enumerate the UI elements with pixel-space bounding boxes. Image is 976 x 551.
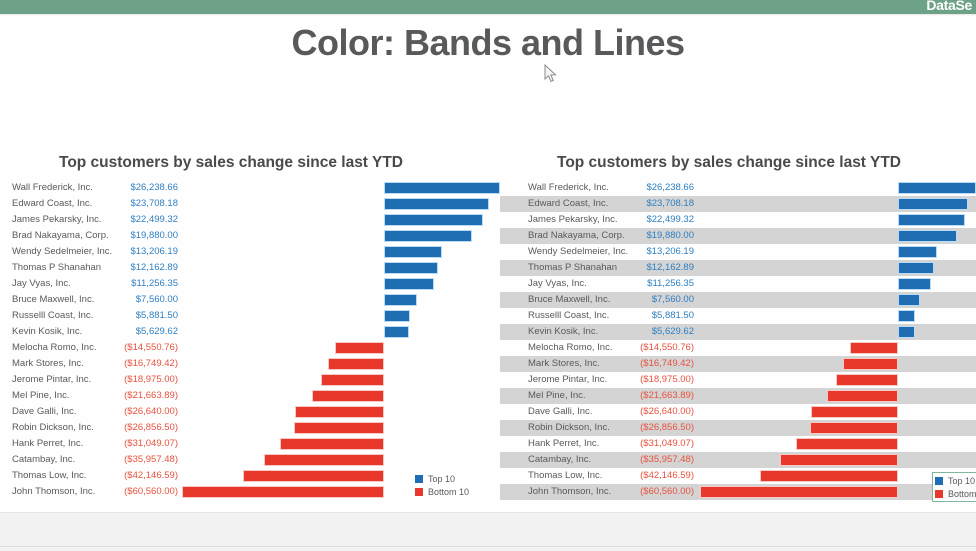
- chart-bar[interactable]: [384, 294, 417, 306]
- row-value-label: $12,162.89: [100, 262, 178, 273]
- chart-row: Wall Frederick, Inc.$26,238.66: [500, 180, 976, 196]
- chart-bar[interactable]: [295, 406, 384, 418]
- row-value-label: ($16,749.42): [616, 358, 694, 369]
- row-value-label: ($26,640.00): [616, 406, 694, 417]
- row-value-label: ($16,749.42): [100, 358, 178, 369]
- row-category-label: Bruce Maxwell, Inc.: [528, 294, 610, 305]
- chart-bar[interactable]: [836, 374, 898, 386]
- chart-bar[interactable]: [700, 486, 898, 498]
- legend-label-bottom: Bottom 10: [428, 487, 469, 497]
- slide-footer-area: [0, 512, 976, 551]
- chart-row: Kevin Kosik, Inc.$5,629.62: [0, 324, 500, 340]
- app-header-ribbon: DataSe: [0, 0, 976, 14]
- row-value-label: $5,629.62: [100, 326, 178, 337]
- chart-bar[interactable]: [384, 278, 434, 290]
- row-category-label: Jerome Pintar, Inc.: [528, 374, 607, 385]
- chart-bar[interactable]: [264, 454, 384, 466]
- row-value-label: $26,238.66: [100, 182, 178, 193]
- row-value-label: ($26,856.50): [100, 422, 178, 433]
- chart-bar[interactable]: [796, 438, 898, 450]
- legend-item-bottom[interactable]: Bottom 10: [935, 487, 976, 500]
- chart-bar[interactable]: [321, 374, 384, 386]
- row-category-label: Thomas Low, Inc.: [528, 470, 602, 481]
- chart-bar[interactable]: [898, 214, 965, 226]
- row-value-label: $23,708.18: [100, 198, 178, 209]
- chart-bar[interactable]: [312, 390, 384, 402]
- chart-bar[interactable]: [335, 342, 384, 354]
- chart-row: Jay Vyas, Inc.$11,256.35: [0, 276, 500, 292]
- chart-bar[interactable]: [827, 390, 898, 402]
- chart-row: Russelll Coast, Inc.$5,881.50: [500, 308, 976, 324]
- row-value-label: ($21,663.89): [100, 390, 178, 401]
- chart-bar[interactable]: [780, 454, 898, 466]
- row-category-label: Kevin Kosik, Inc.: [528, 326, 598, 337]
- row-category-label: Mel Pine, Inc.: [12, 390, 70, 401]
- chart-row: Jerome Pintar, Inc.($18,975.00): [500, 372, 976, 388]
- chart-bar[interactable]: [898, 294, 920, 306]
- legend-swatch-top-icon: [415, 475, 423, 483]
- row-category-label: Russelll Coast, Inc.: [12, 310, 93, 321]
- chart-bar[interactable]: [384, 326, 409, 338]
- chart-title: Top customers by sales change since last…: [500, 154, 976, 172]
- chart-bar[interactable]: [243, 470, 384, 482]
- chart-row: Robin Dickson, Inc.($26,856.50): [500, 420, 976, 436]
- row-value-label: ($26,640.00): [100, 406, 178, 417]
- row-category-label: Hank Perret, Inc.: [12, 438, 83, 449]
- row-value-label: ($26,856.50): [616, 422, 694, 433]
- row-category-label: John Thomson, Inc.: [12, 486, 95, 497]
- row-value-label: $13,206.19: [100, 246, 178, 257]
- row-category-label: Mel Pine, Inc.: [528, 390, 586, 401]
- header-shadow: [0, 14, 976, 16]
- chart-row: Dave Galli, Inc.($26,640.00): [500, 404, 976, 420]
- row-value-label: ($31,049.07): [616, 438, 694, 449]
- chart-bar[interactable]: [384, 182, 500, 194]
- row-value-label: ($14,550.76): [616, 342, 694, 353]
- row-value-label: ($31,049.07): [100, 438, 178, 449]
- brand-label: DataSe: [926, 0, 972, 13]
- row-category-label: Dave Galli, Inc.: [12, 406, 76, 417]
- chart-row: Edward Coast, Inc.$23,708.18: [500, 196, 976, 212]
- chart-row: Catambay, Inc.($35,957.48): [0, 452, 500, 468]
- chart-row: Wendy Sedelmeier, Inc.$13,206.19: [0, 244, 500, 260]
- row-category-label: Wall Frederick, Inc.: [12, 182, 93, 193]
- chart-bar[interactable]: [384, 262, 438, 274]
- row-category-label: Hank Perret, Inc.: [528, 438, 599, 449]
- chart-bar[interactable]: [898, 182, 976, 194]
- legend-label-top: Top 10: [428, 474, 455, 484]
- chart-bar[interactable]: [898, 262, 934, 274]
- row-category-label: Dave Galli, Inc.: [528, 406, 592, 417]
- chart-row: Russelll Coast, Inc.$5,881.50: [0, 308, 500, 324]
- row-value-label: ($60,560.00): [100, 486, 178, 497]
- row-value-label: $22,499.32: [100, 214, 178, 225]
- row-category-label: Mark Stores, Inc.: [12, 358, 84, 369]
- row-value-label: ($18,975.00): [100, 374, 178, 385]
- chart-bar[interactable]: [182, 486, 384, 498]
- row-category-label: Wall Frederick, Inc.: [528, 182, 609, 193]
- chart-bar[interactable]: [294, 422, 384, 434]
- row-category-label: Catambay, Inc.: [12, 454, 75, 465]
- chart-title: Top customers by sales change since last…: [0, 154, 500, 172]
- row-category-label: Jay Vyas, Inc.: [12, 278, 71, 289]
- legend-item-top[interactable]: Top 10: [415, 472, 469, 485]
- row-category-label: Thomas P Shanahan: [528, 262, 617, 273]
- chart-bar[interactable]: [898, 278, 931, 290]
- row-value-label: $5,881.50: [616, 310, 694, 321]
- row-value-label: $11,256.35: [100, 278, 178, 289]
- chart-legend: Top 10 Bottom 10: [415, 472, 469, 498]
- legend-item-bottom[interactable]: Bottom 10: [415, 485, 469, 498]
- chart-row: Bruce Maxwell, Inc.$7,560.00: [500, 292, 976, 308]
- chart-row: Hank Perret, Inc.($31,049.07): [0, 436, 500, 452]
- chart-plot-area: Wall Frederick, Inc.$26,238.66Edward Coa…: [500, 180, 976, 500]
- row-category-label: Melocha Romo, Inc.: [528, 342, 612, 353]
- row-value-label: ($35,957.48): [616, 454, 694, 465]
- chart-row: Wendy Sedelmeier, Inc.$13,206.19: [500, 244, 976, 260]
- row-value-label: ($14,550.76): [100, 342, 178, 353]
- chart-row: Mark Stores, Inc.($16,749.42): [0, 356, 500, 372]
- chart-row: Brad Nakayama, Corp.$19,880.00: [0, 228, 500, 244]
- chart-legend: Top 10 Bottom 10: [932, 472, 976, 502]
- row-value-label: $5,629.62: [616, 326, 694, 337]
- chart-bar[interactable]: [384, 198, 489, 210]
- footer-divider: [0, 546, 976, 547]
- chart-row: James Pekarsky, Inc.$22,499.32: [500, 212, 976, 228]
- row-value-label: $7,560.00: [616, 294, 694, 305]
- chart-row: Edward Coast, Inc.$23,708.18: [0, 196, 500, 212]
- chart-bar[interactable]: [850, 342, 898, 354]
- row-category-label: Jay Vyas, Inc.: [528, 278, 587, 289]
- row-value-label: ($21,663.89): [616, 390, 694, 401]
- chart-row: Bruce Maxwell, Inc.$7,560.00: [0, 292, 500, 308]
- legend-swatch-top-icon: [935, 477, 943, 485]
- row-value-label: ($42,146.59): [616, 470, 694, 481]
- chart-bar[interactable]: [810, 422, 898, 434]
- row-category-label: Thomas Low, Inc.: [12, 470, 86, 481]
- chart-row: Jerome Pintar, Inc.($18,975.00): [0, 372, 500, 388]
- row-category-label: Thomas P Shanahan: [12, 262, 101, 273]
- chart-row: James Pekarsky, Inc.$22,499.32: [0, 212, 500, 228]
- chart-row: Thomas Low, Inc.($42,146.59): [500, 468, 976, 484]
- row-category-label: James Pekarsky, Inc.: [12, 214, 102, 225]
- chart-panel-right: Top customers by sales change since last…: [500, 150, 976, 510]
- chart-bar[interactable]: [898, 310, 915, 322]
- chart-bar[interactable]: [328, 358, 384, 370]
- row-category-label: Brad Nakayama, Corp.: [528, 230, 625, 241]
- row-value-label: $11,256.35: [616, 278, 694, 289]
- chart-bar[interactable]: [384, 310, 410, 322]
- chart-row: Catambay, Inc.($35,957.48): [500, 452, 976, 468]
- chart-bar[interactable]: [384, 230, 472, 242]
- row-category-label: Wendy Sedelmeier, Inc.: [528, 246, 628, 257]
- legend-label-top: Top 10: [948, 476, 975, 486]
- row-category-label: Melocha Romo, Inc.: [12, 342, 96, 353]
- chart-bar[interactable]: [811, 406, 898, 418]
- row-value-label: ($60,560.00): [616, 486, 694, 497]
- chart-bar[interactable]: [843, 358, 898, 370]
- legend-swatch-bottom-icon: [935, 490, 943, 498]
- row-category-label: Robin Dickson, Inc.: [528, 422, 610, 433]
- row-category-label: Russelll Coast, Inc.: [528, 310, 609, 321]
- row-category-label: Kevin Kosik, Inc.: [12, 326, 82, 337]
- chart-bar[interactable]: [898, 198, 968, 210]
- chart-bar[interactable]: [384, 246, 442, 258]
- legend-item-top[interactable]: Top 10: [935, 474, 976, 487]
- row-value-label: ($18,975.00): [616, 374, 694, 385]
- row-value-label: $26,238.66: [616, 182, 694, 193]
- chart-row: Mark Stores, Inc.($16,749.42): [500, 356, 976, 372]
- chart-row: Melocha Romo, Inc.($14,550.76): [500, 340, 976, 356]
- chart-row: Wall Frederick, Inc.$26,238.66: [0, 180, 500, 196]
- row-category-label: Robin Dickson, Inc.: [12, 422, 94, 433]
- legend-swatch-bottom-icon: [415, 488, 423, 496]
- page-title: Color: Bands and Lines: [0, 22, 976, 64]
- chart-row: Hank Perret, Inc.($31,049.07): [500, 436, 976, 452]
- row-value-label: $19,880.00: [616, 230, 694, 241]
- chart-row: Kevin Kosik, Inc.$5,629.62: [500, 324, 976, 340]
- row-category-label: Wendy Sedelmeier, Inc.: [12, 246, 112, 257]
- row-value-label: $12,162.89: [616, 262, 694, 273]
- row-category-label: Edward Coast, Inc.: [12, 198, 92, 209]
- chart-row: Melocha Romo, Inc.($14,550.76): [0, 340, 500, 356]
- row-value-label: ($42,146.59): [100, 470, 178, 481]
- chart-row: Robin Dickson, Inc.($26,856.50): [0, 420, 500, 436]
- row-value-label: $22,499.32: [616, 214, 694, 225]
- row-value-label: $19,880.00: [100, 230, 178, 241]
- chart-bar[interactable]: [898, 326, 915, 338]
- chart-plot-area: Wall Frederick, Inc.$26,238.66Edward Coa…: [0, 180, 500, 500]
- row-category-label: James Pekarsky, Inc.: [528, 214, 618, 225]
- chart-panel-left: Top customers by sales change since last…: [0, 150, 500, 510]
- row-category-label: Brad Nakayama, Corp.: [12, 230, 109, 241]
- row-category-label: Edward Coast, Inc.: [528, 198, 608, 209]
- chart-row: Mel Pine, Inc.($21,663.89): [0, 388, 500, 404]
- row-value-label: $7,560.00: [100, 294, 178, 305]
- row-value-label: $23,708.18: [616, 198, 694, 209]
- chart-bar[interactable]: [898, 246, 937, 258]
- row-category-label: Jerome Pintar, Inc.: [12, 374, 91, 385]
- chart-bar[interactable]: [280, 438, 384, 450]
- row-value-label: ($35,957.48): [100, 454, 178, 465]
- chart-row: Dave Galli, Inc.($26,640.00): [0, 404, 500, 420]
- row-value-label: $13,206.19: [616, 246, 694, 257]
- chart-row: Jay Vyas, Inc.$11,256.35: [500, 276, 976, 292]
- chart-row: John Thomson, Inc.($60,560.00): [500, 484, 976, 500]
- row-category-label: Bruce Maxwell, Inc.: [12, 294, 94, 305]
- mouse-pointer-icon: [544, 64, 558, 84]
- row-category-label: John Thomson, Inc.: [528, 486, 611, 497]
- row-category-label: Catambay, Inc.: [528, 454, 591, 465]
- chart-row: Thomas P Shanahan$12,162.89: [500, 260, 976, 276]
- chart-bar[interactable]: [760, 470, 898, 482]
- chart-row: Thomas P Shanahan$12,162.89: [0, 260, 500, 276]
- chart-row: Mel Pine, Inc.($21,663.89): [500, 388, 976, 404]
- chart-row: Brad Nakayama, Corp.$19,880.00: [500, 228, 976, 244]
- chart-bar[interactable]: [898, 230, 957, 242]
- row-value-label: $5,881.50: [100, 310, 178, 321]
- chart-bar[interactable]: [384, 214, 483, 226]
- legend-label-bottom: Bottom 10: [948, 489, 976, 499]
- row-category-label: Mark Stores, Inc.: [528, 358, 600, 369]
